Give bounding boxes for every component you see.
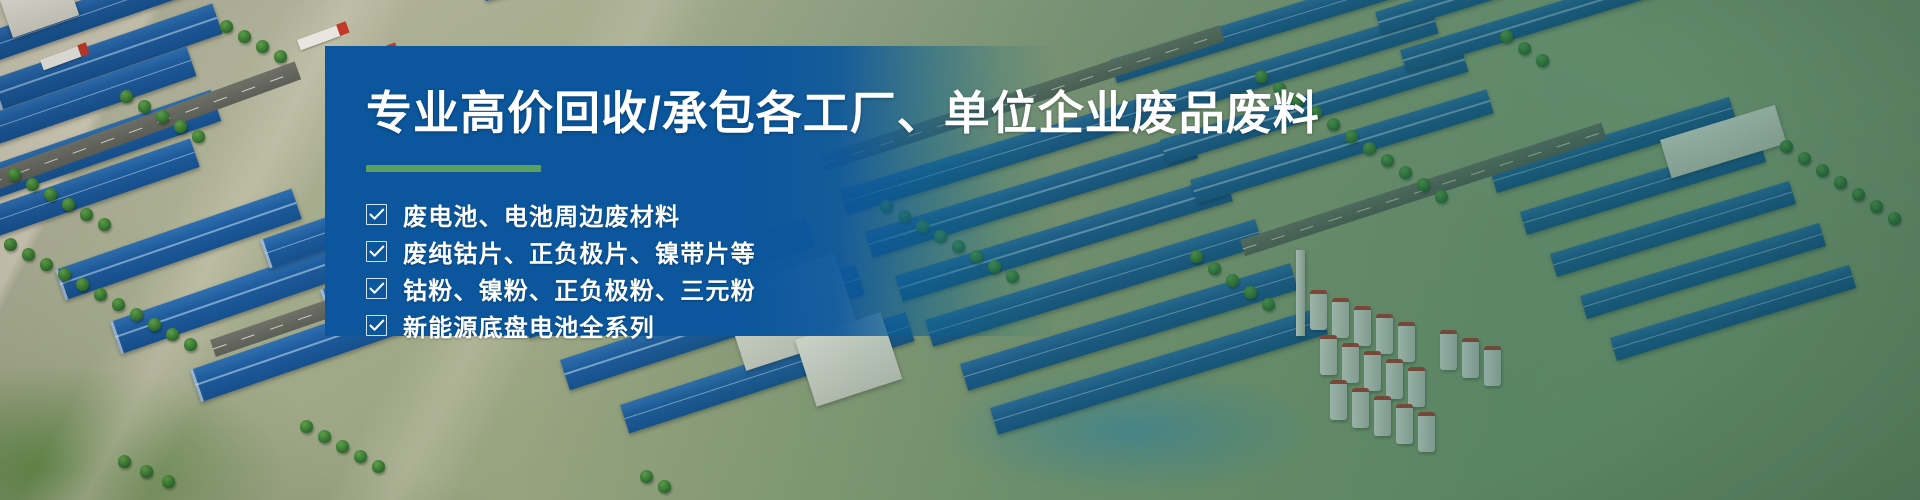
service-list: 废电池、电池周边废材料 废纯钴片、正负极片、镍带片等 钴粉、镍粉、正负极粉、三元… bbox=[366, 198, 1866, 342]
list-item: 钴粉、镍粉、正负极粉、三元粉 bbox=[366, 272, 1866, 305]
list-item-label: 钴粉、镍粉、正负极粉、三元粉 bbox=[403, 271, 756, 306]
accent-divider-bar bbox=[366, 165, 541, 172]
banner-headline: 专业高价回收/承包各工厂、单位企业废品废料 bbox=[366, 86, 1866, 140]
banner-content: 专业高价回收/承包各工厂、单位企业废品废料 废电池、电池周边废材料 废纯钴片、正… bbox=[366, 46, 1866, 346]
list-item: 废纯钴片、正负极片、镍带片等 bbox=[366, 235, 1866, 268]
checkbox-checked-icon bbox=[366, 315, 387, 336]
checkbox-checked-icon bbox=[366, 204, 387, 225]
promotional-banner: 专业高价回收/承包各工厂、单位企业废品废料 废电池、电池周边废材料 废纯钴片、正… bbox=[0, 0, 1920, 500]
checkbox-checked-icon bbox=[366, 278, 387, 299]
checkbox-checked-icon bbox=[366, 241, 387, 262]
list-item-label: 废电池、电池周边废材料 bbox=[403, 197, 680, 232]
list-item-label: 新能源底盘电池全系列 bbox=[403, 308, 655, 343]
list-item: 新能源底盘电池全系列 bbox=[366, 309, 1866, 342]
list-item: 废电池、电池周边废材料 bbox=[366, 198, 1866, 231]
list-item-label: 废纯钴片、正负极片、镍带片等 bbox=[403, 234, 756, 269]
